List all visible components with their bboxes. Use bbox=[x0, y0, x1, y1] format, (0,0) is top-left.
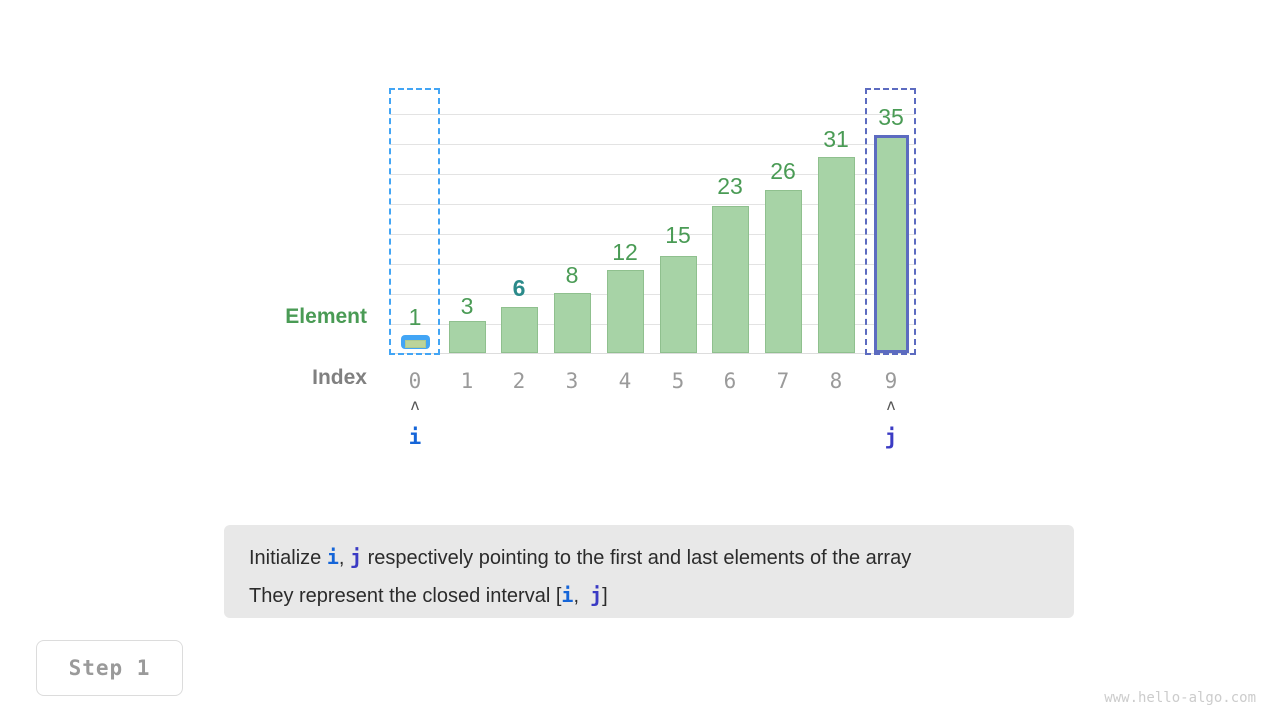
bar-0 bbox=[405, 340, 426, 348]
bar-4 bbox=[607, 270, 644, 353]
bar-value-8: 31 bbox=[806, 126, 866, 153]
caption-interval-i: i bbox=[561, 583, 573, 607]
pointer-caret-j: ʌ bbox=[861, 396, 921, 414]
step-badge: Step 1 bbox=[36, 640, 183, 696]
index-label-3: 3 bbox=[542, 369, 602, 393]
index-label-7: 7 bbox=[753, 369, 813, 393]
watermark: www.hello-algo.com bbox=[1104, 690, 1256, 706]
caption-panel: Initialize i, j respectively pointing to… bbox=[224, 525, 1074, 618]
caption-comma: , bbox=[339, 547, 350, 569]
index-label-6: 6 bbox=[700, 369, 760, 393]
index-label-2: 2 bbox=[489, 369, 549, 393]
index-label-8: 8 bbox=[806, 369, 866, 393]
caption-text-initialize: Initialize bbox=[249, 547, 327, 569]
bar-value-7: 26 bbox=[753, 158, 813, 185]
pointer-label-j: j bbox=[861, 425, 921, 449]
caption-code-i: i bbox=[327, 545, 339, 569]
bar-3 bbox=[554, 293, 591, 353]
caption-line-2: They represent the closed interval [i, j… bbox=[249, 577, 1049, 615]
gridline bbox=[390, 114, 915, 115]
caption-interval-sep: , bbox=[573, 585, 590, 607]
caption-code-j: j bbox=[350, 545, 362, 569]
caption-interval-j: j bbox=[590, 583, 602, 607]
caption-text-rest: respectively pointing to the first and l… bbox=[362, 547, 911, 569]
bar-value-9: 35 bbox=[861, 104, 921, 131]
pointer-label-i: i bbox=[385, 425, 445, 449]
pointer-caret-i: ʌ bbox=[385, 396, 445, 414]
bar-5 bbox=[660, 256, 697, 353]
index-label-9: 9 bbox=[861, 369, 921, 393]
bar-2 bbox=[501, 307, 538, 353]
bar-value-5: 15 bbox=[648, 222, 708, 249]
step-badge-label: Step 1 bbox=[69, 656, 151, 680]
caption-bracket-close: ] bbox=[602, 585, 608, 607]
axis-title-index: Index bbox=[200, 366, 367, 390]
caption-line-1: Initialize i, j respectively pointing to… bbox=[249, 539, 1049, 577]
array-bar-chart: 1 3 6 8 12 15 23 26 31 35 Element Index … bbox=[0, 0, 1280, 470]
index-label-1: 1 bbox=[437, 369, 497, 393]
bar-value-0: 1 bbox=[385, 304, 445, 331]
bar-8 bbox=[818, 157, 855, 353]
chart-baseline bbox=[390, 353, 915, 354]
caption-text-interval: They represent the closed interval bbox=[249, 585, 556, 607]
index-label-5: 5 bbox=[648, 369, 708, 393]
bar-value-2: 6 bbox=[489, 275, 549, 302]
bar-value-3: 8 bbox=[542, 262, 602, 289]
bar-value-6: 23 bbox=[700, 173, 760, 200]
bar-value-4: 12 bbox=[595, 239, 655, 266]
bar-1 bbox=[449, 321, 486, 353]
bar-9 bbox=[874, 135, 909, 353]
bar-value-1: 3 bbox=[437, 293, 497, 320]
index-label-0: 0 bbox=[385, 369, 445, 393]
index-label-4: 4 bbox=[595, 369, 655, 393]
bar-6 bbox=[712, 206, 749, 353]
bar-7 bbox=[765, 190, 802, 353]
axis-title-element: Element bbox=[200, 305, 367, 329]
